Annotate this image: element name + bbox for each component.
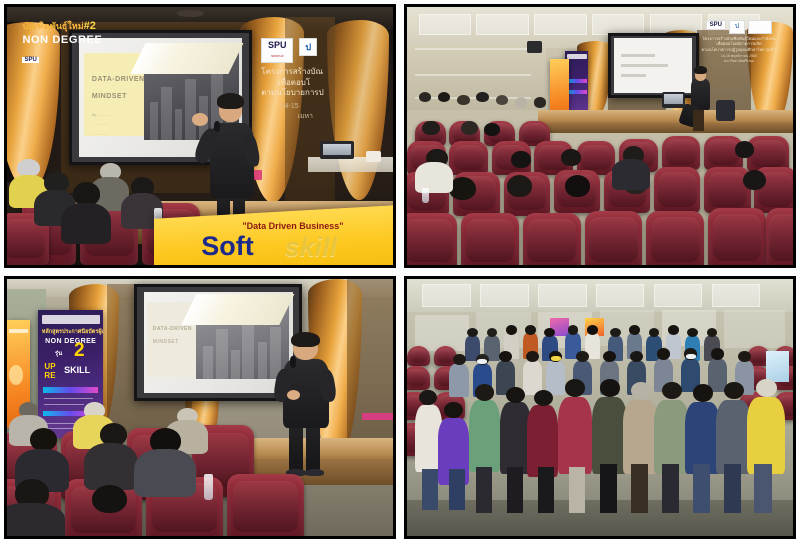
slide-sub2: …… …… [92,121,109,126]
wall-sign-line1: โครงการสร้างบัณ [250,67,389,78]
panel-top-right[interactable]: SPU ป โครงการสร้างบัณฑิตพันธุ์ใหม่และกำล… [404,4,796,268]
panel-top-left[interactable]: DATA-DRIVEN MINDSET by …… …… …… …… …… ……… [4,4,396,268]
photo-audience-wide: SPU ป โครงการสร้างบัณฑิตพันธุ์ใหม่และกำล… [407,7,793,265]
spu-logo-small: SPU [706,20,726,30]
slide-title-line1: DATA-DRIVEN [92,76,145,83]
wall-signage: SPU SRIPATUM ป โครงการสร้างบัณ เพื่อตอบโ… [250,38,389,121]
rollup-non-degree: NON DEGREE [42,338,100,345]
ceiling-speaker-icon [527,41,542,54]
spu-logo: SPU SRIPATUM [261,38,293,63]
banner-word-skill: skill [284,234,337,261]
brand-overlay: บัณฑิตพันธุ์ใหม่#2 NON DEGREE SPU [22,17,102,65]
laptop [320,141,355,159]
slide-sub3: …… …… [92,131,109,136]
photo-group [407,279,793,536]
photo-speaker-with-banner: DATA-DRIVEN MINDSET หลักสูตรประกาศนียบัต… [7,279,393,536]
wall-sign-line2: เพื่อตอบโ [250,78,389,89]
panel-bottom-left[interactable]: DATA-DRIVEN MINDSET หลักสูตรประกาศนียบัต… [4,276,396,539]
rollup-batch-label: รุ่น [55,348,62,358]
wall-sign-line3: ตามนโยบายการป [250,88,389,99]
slide-title-line2: MINDSET [92,93,127,100]
slide-sub1: by …… …… [92,112,114,117]
wall-signage-right: SPU ป โครงการสร้างบัณฑิตพันธุ์ใหม่และกำล… [693,20,786,64]
microphone [290,356,296,368]
wall-sign-r-line3: ตามนโยบายการปฏิรูปอุดมศึกษาไทย รุ่นที่ 2 [693,47,786,52]
brand-thai-line: บัณฑิตพันธุ์ใหม่ [22,21,83,31]
photo-collage: DATA-DRIVEN MINDSET by …… …… …… …… …… ……… [0,0,800,543]
backpack [716,100,735,121]
rollup-re: RE [44,372,55,380]
banner-word-soft: Soft [201,233,253,260]
rollup-skill: SKILL [64,366,90,375]
event-banner: "Data Driven Business" Soft skill [154,203,393,265]
wall-sign-line5: เมหา [250,112,389,121]
brand-hash: #2 [84,20,96,32]
rollup-thai-title: หลักสูตรประกาศนียบัตรผู้เรียน [42,328,100,336]
wall-sign-r-line5: มหาวิทยาลัยศรีปทุม [693,59,786,64]
panel-bottom-right[interactable] [404,276,796,539]
wall-sign-line4: 14-15 [250,102,389,111]
rollup-up: UP [44,363,55,371]
banner-quote: "Data Driven Business" [154,221,393,231]
rollup-batch-number: 2 [74,341,85,360]
stage-laptop [662,92,685,107]
brand-spu: SPU [22,57,38,63]
slide-swoosh [130,43,243,74]
brand-non-degree: NON DEGREE [22,35,102,47]
partner-logo: ป [299,38,317,56]
photo-speaker-on-stage: DATA-DRIVEN MINDSET by …… …… …… …… …… ……… [7,7,393,265]
